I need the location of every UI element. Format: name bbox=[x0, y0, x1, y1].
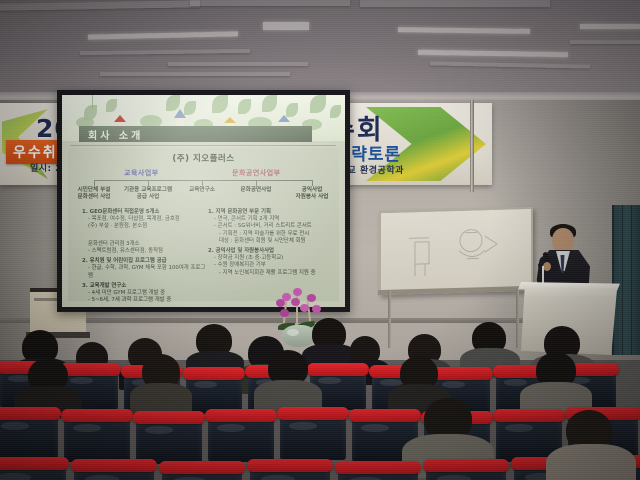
org-node: 시민단체 부설문화센터 사업 bbox=[65, 187, 123, 201]
org-category-culture: 문화공연사업부 bbox=[232, 168, 281, 178]
whiteboard bbox=[379, 207, 533, 295]
org-chart-connector bbox=[94, 180, 312, 181]
auditorium-seat bbox=[162, 468, 242, 480]
presenter-head bbox=[552, 228, 574, 253]
org-node: 교육연구소 bbox=[173, 187, 231, 194]
ceiling-light-fixture bbox=[263, 22, 309, 30]
org-node: 공익사업자원봉사 사업 bbox=[283, 187, 341, 201]
slide-title: 회사 소개 bbox=[79, 127, 143, 142]
auditorium-seat bbox=[0, 414, 58, 460]
orchid-bloom bbox=[300, 304, 309, 312]
slide-body: (주) 지오플러스 교육사업부 문화공연사업부 시민단체 부설문화센터 사업 기… bbox=[68, 148, 339, 301]
auditorium-seat bbox=[74, 466, 154, 480]
org-chart-root: (주) 지오플러스 bbox=[68, 152, 339, 164]
side-door[interactable] bbox=[612, 205, 640, 355]
ceiling-light-fixture bbox=[88, 31, 238, 39]
auditorium-seat bbox=[208, 416, 274, 462]
auditorium-seat bbox=[338, 468, 418, 480]
whiteboard-leg bbox=[516, 290, 519, 348]
orchid-bloom bbox=[282, 293, 291, 301]
ceiling-light-fixture bbox=[580, 24, 640, 29]
ceiling-light-fixture bbox=[418, 50, 568, 58]
org-node: 기관용 교육프로그램공급 사업 bbox=[119, 187, 177, 201]
orchid-bloom bbox=[291, 298, 300, 306]
auditorium-seat bbox=[426, 466, 506, 480]
ceiling bbox=[0, 0, 640, 100]
ceiling-light-fixture bbox=[398, 27, 530, 34]
org-node: 문화공연사업 bbox=[227, 187, 285, 194]
whiteboard-leg bbox=[388, 290, 391, 348]
projection-screen: 회사 소개 (주) 지오플러스 교육사업부 문화공연사업부 시민단체 부설문화센… bbox=[57, 90, 350, 312]
slide-right-column: 1. 지역 문화공연 부문 기획- 연극, 콘서트 기획 2개 지역- 콘서트 … bbox=[208, 206, 336, 277]
auditorium-seat bbox=[0, 464, 66, 480]
whiteboard-sketch bbox=[381, 209, 527, 289]
photo-scene: 200 우수취업 일시: 2009. 수회 공전략토론 대학교 환경공학과 bbox=[0, 0, 640, 480]
slide-title-bar: 회사 소개 bbox=[79, 126, 312, 142]
slide-divider bbox=[70, 145, 336, 146]
orchid-pot bbox=[282, 325, 316, 347]
auditorium-seat bbox=[186, 374, 242, 414]
auditorium-seat bbox=[64, 416, 130, 462]
orchid-bloom bbox=[312, 305, 321, 313]
auditorium-seat bbox=[250, 466, 330, 480]
orchid-bloom bbox=[293, 288, 302, 296]
audience-seating bbox=[0, 352, 640, 480]
slide-left-column: 1. GEO문화센터 직접운영 5개소- 목포점, 여수점, 더샵점, 목계점,… bbox=[82, 206, 210, 304]
auditorium-seat bbox=[136, 418, 202, 464]
screen-surface: 회사 소개 (주) 지오플러스 교육사업부 문화공연사업부 시민단체 부설문화센… bbox=[62, 95, 345, 307]
org-category-education: 교육사업부 bbox=[124, 168, 159, 178]
auditorium-seat bbox=[280, 414, 346, 460]
presenter-hand bbox=[543, 262, 551, 271]
presentation-slide: 회사 소개 (주) 지오플러스 교육사업부 문화공연사업부 시민단체 부설문화센… bbox=[62, 95, 345, 307]
orchid-bloom bbox=[280, 309, 289, 317]
banner-support-pole bbox=[470, 100, 474, 192]
orchid-bloom bbox=[307, 294, 316, 302]
